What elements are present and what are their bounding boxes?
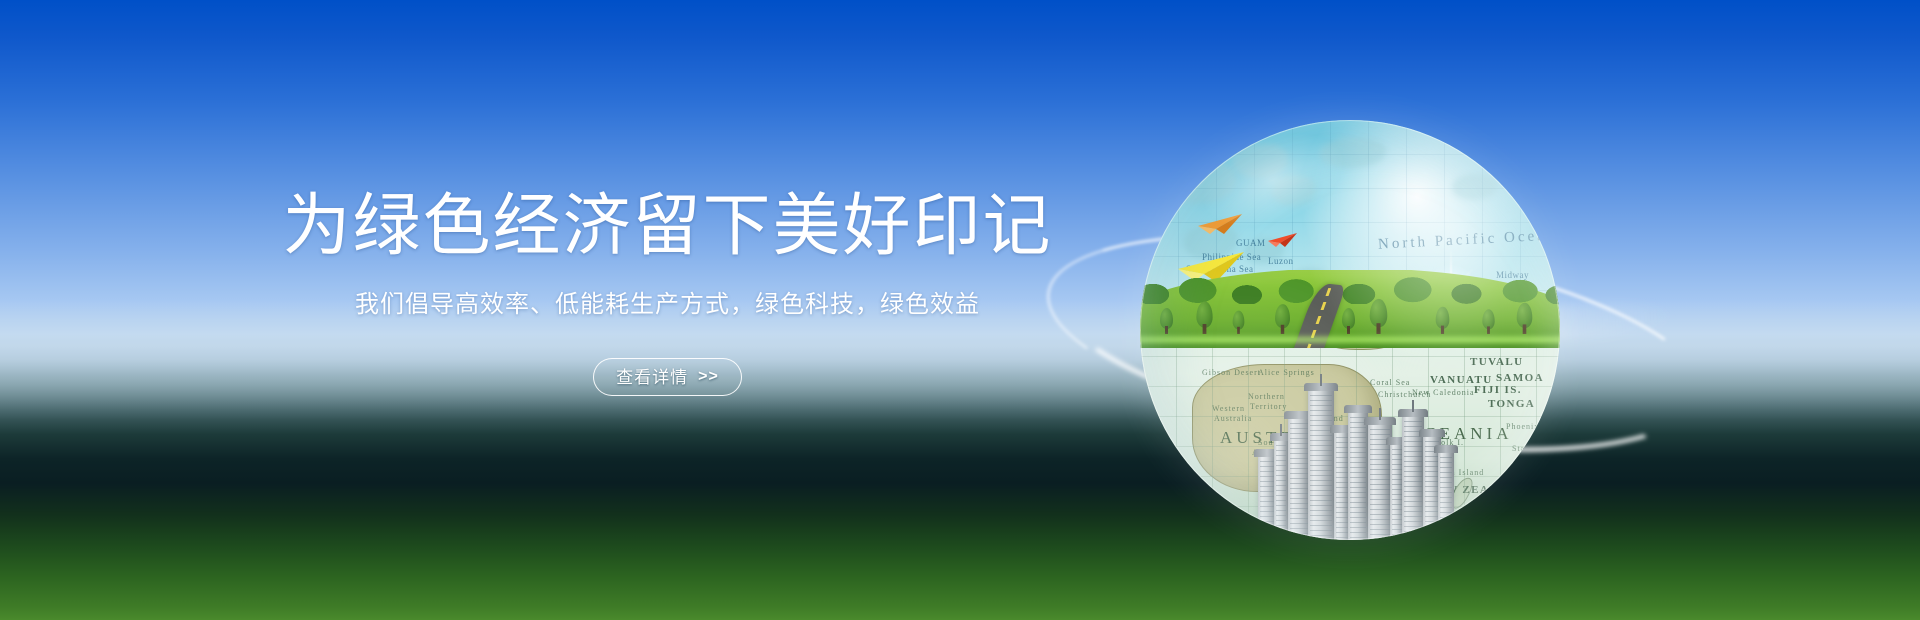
skyline-buildings (1258, 380, 1458, 540)
nz-south-island-landmass (1459, 501, 1485, 533)
page-title: 为绿色经济留下美好印记 (0, 186, 1335, 266)
tree (1370, 299, 1388, 334)
building (1274, 440, 1288, 540)
map-label: Western (1212, 404, 1245, 413)
tree (1482, 309, 1494, 334)
map-label: TUVALU (1470, 356, 1523, 368)
hero-text-block: 为绿色经济留下美好印记 我们倡导高效率、低能耗生产方式，绿色科技，绿色效益 查看… (0, 186, 1335, 396)
cta-container: 查看详情 >> (0, 358, 1335, 396)
page-subtitle: 我们倡导高效率、低能耗生产方式，绿色科技，绿色效益 (0, 288, 1335, 322)
view-details-label: 查看详情 (616, 369, 688, 386)
building (1288, 418, 1310, 540)
dome-landmass (1452, 174, 1498, 200)
map-label: Phoenix Is. (1506, 422, 1553, 431)
tree (1517, 303, 1533, 334)
view-details-button[interactable]: 查看详情 >> (593, 358, 742, 396)
tree (1436, 307, 1450, 334)
tree (1342, 308, 1355, 334)
map-label: SAMOA (1496, 372, 1544, 384)
building (1438, 452, 1454, 540)
dome-landmass (1232, 144, 1288, 178)
chevron-right-double-icon: >> (698, 369, 719, 385)
dome-landmass (1320, 138, 1386, 168)
map-label: FIJI IS. (1474, 384, 1522, 396)
building (1308, 390, 1334, 540)
building (1348, 412, 1368, 540)
map-label: Starbuck (1512, 444, 1548, 453)
map-label: TONGA (1488, 398, 1535, 410)
map-label: Australia (1214, 414, 1252, 423)
hero-banner: North Pacific Ocean MidwayWake IslandPHI… (0, 0, 1920, 620)
